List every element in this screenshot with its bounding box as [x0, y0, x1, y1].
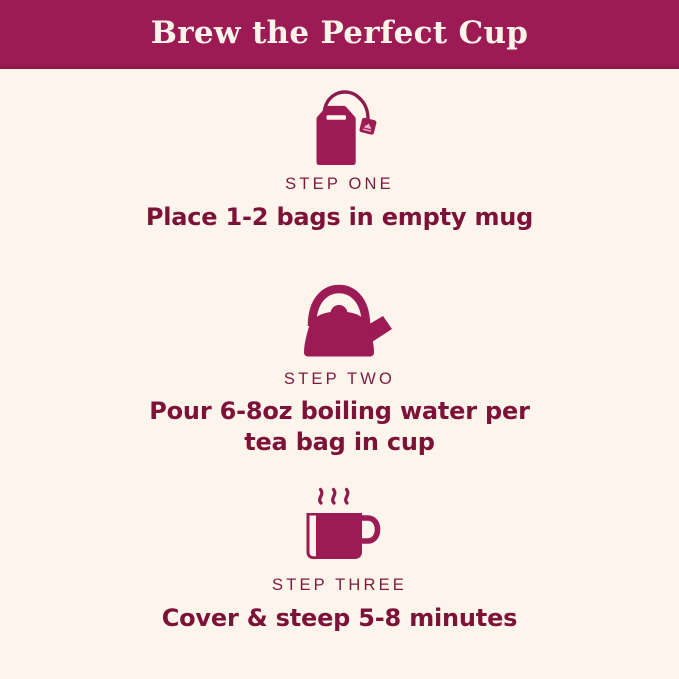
step-two-description: Pour 6-8oz boiling water per tea bag in … — [149, 396, 530, 457]
step-one-description: Place 1-2 bags in empty mug — [146, 202, 533, 233]
step-three-line-1: Cover & steep 5-8 minutes — [162, 603, 518, 634]
brewing-instructions-poster: Brew the Perfect Cup — [0, 0, 679, 679]
steaming-mug-icon — [288, 480, 392, 570]
page-title: Brew the Perfect Cup — [151, 18, 529, 49]
step-two-line-2: tea bag in cup — [149, 427, 530, 458]
step-two-kicker: STEP TWO — [284, 370, 395, 390]
step-two: STEP TWO Pour 6-8oz boiling water per te… — [0, 282, 679, 481]
step-three-kicker: STEP THREE — [272, 576, 407, 596]
steps-container: STEP ONE Place 1-2 bags in empty mug — [0, 69, 679, 679]
step-three-description: Cover & steep 5-8 minutes — [162, 603, 518, 634]
step-three: STEP THREE Cover & steep 5-8 minutes — [0, 480, 679, 679]
header-bar: Brew the Perfect Cup — [0, 0, 679, 69]
step-two-line-1: Pour 6-8oz boiling water per — [149, 396, 530, 427]
tea-bag-icon — [295, 83, 385, 169]
kettle-icon — [282, 282, 398, 364]
step-one-kicker: STEP ONE — [285, 175, 394, 195]
step-one-line-1: Place 1-2 bags in empty mug — [146, 202, 533, 233]
step-one: STEP ONE Place 1-2 bags in empty mug — [0, 83, 679, 282]
